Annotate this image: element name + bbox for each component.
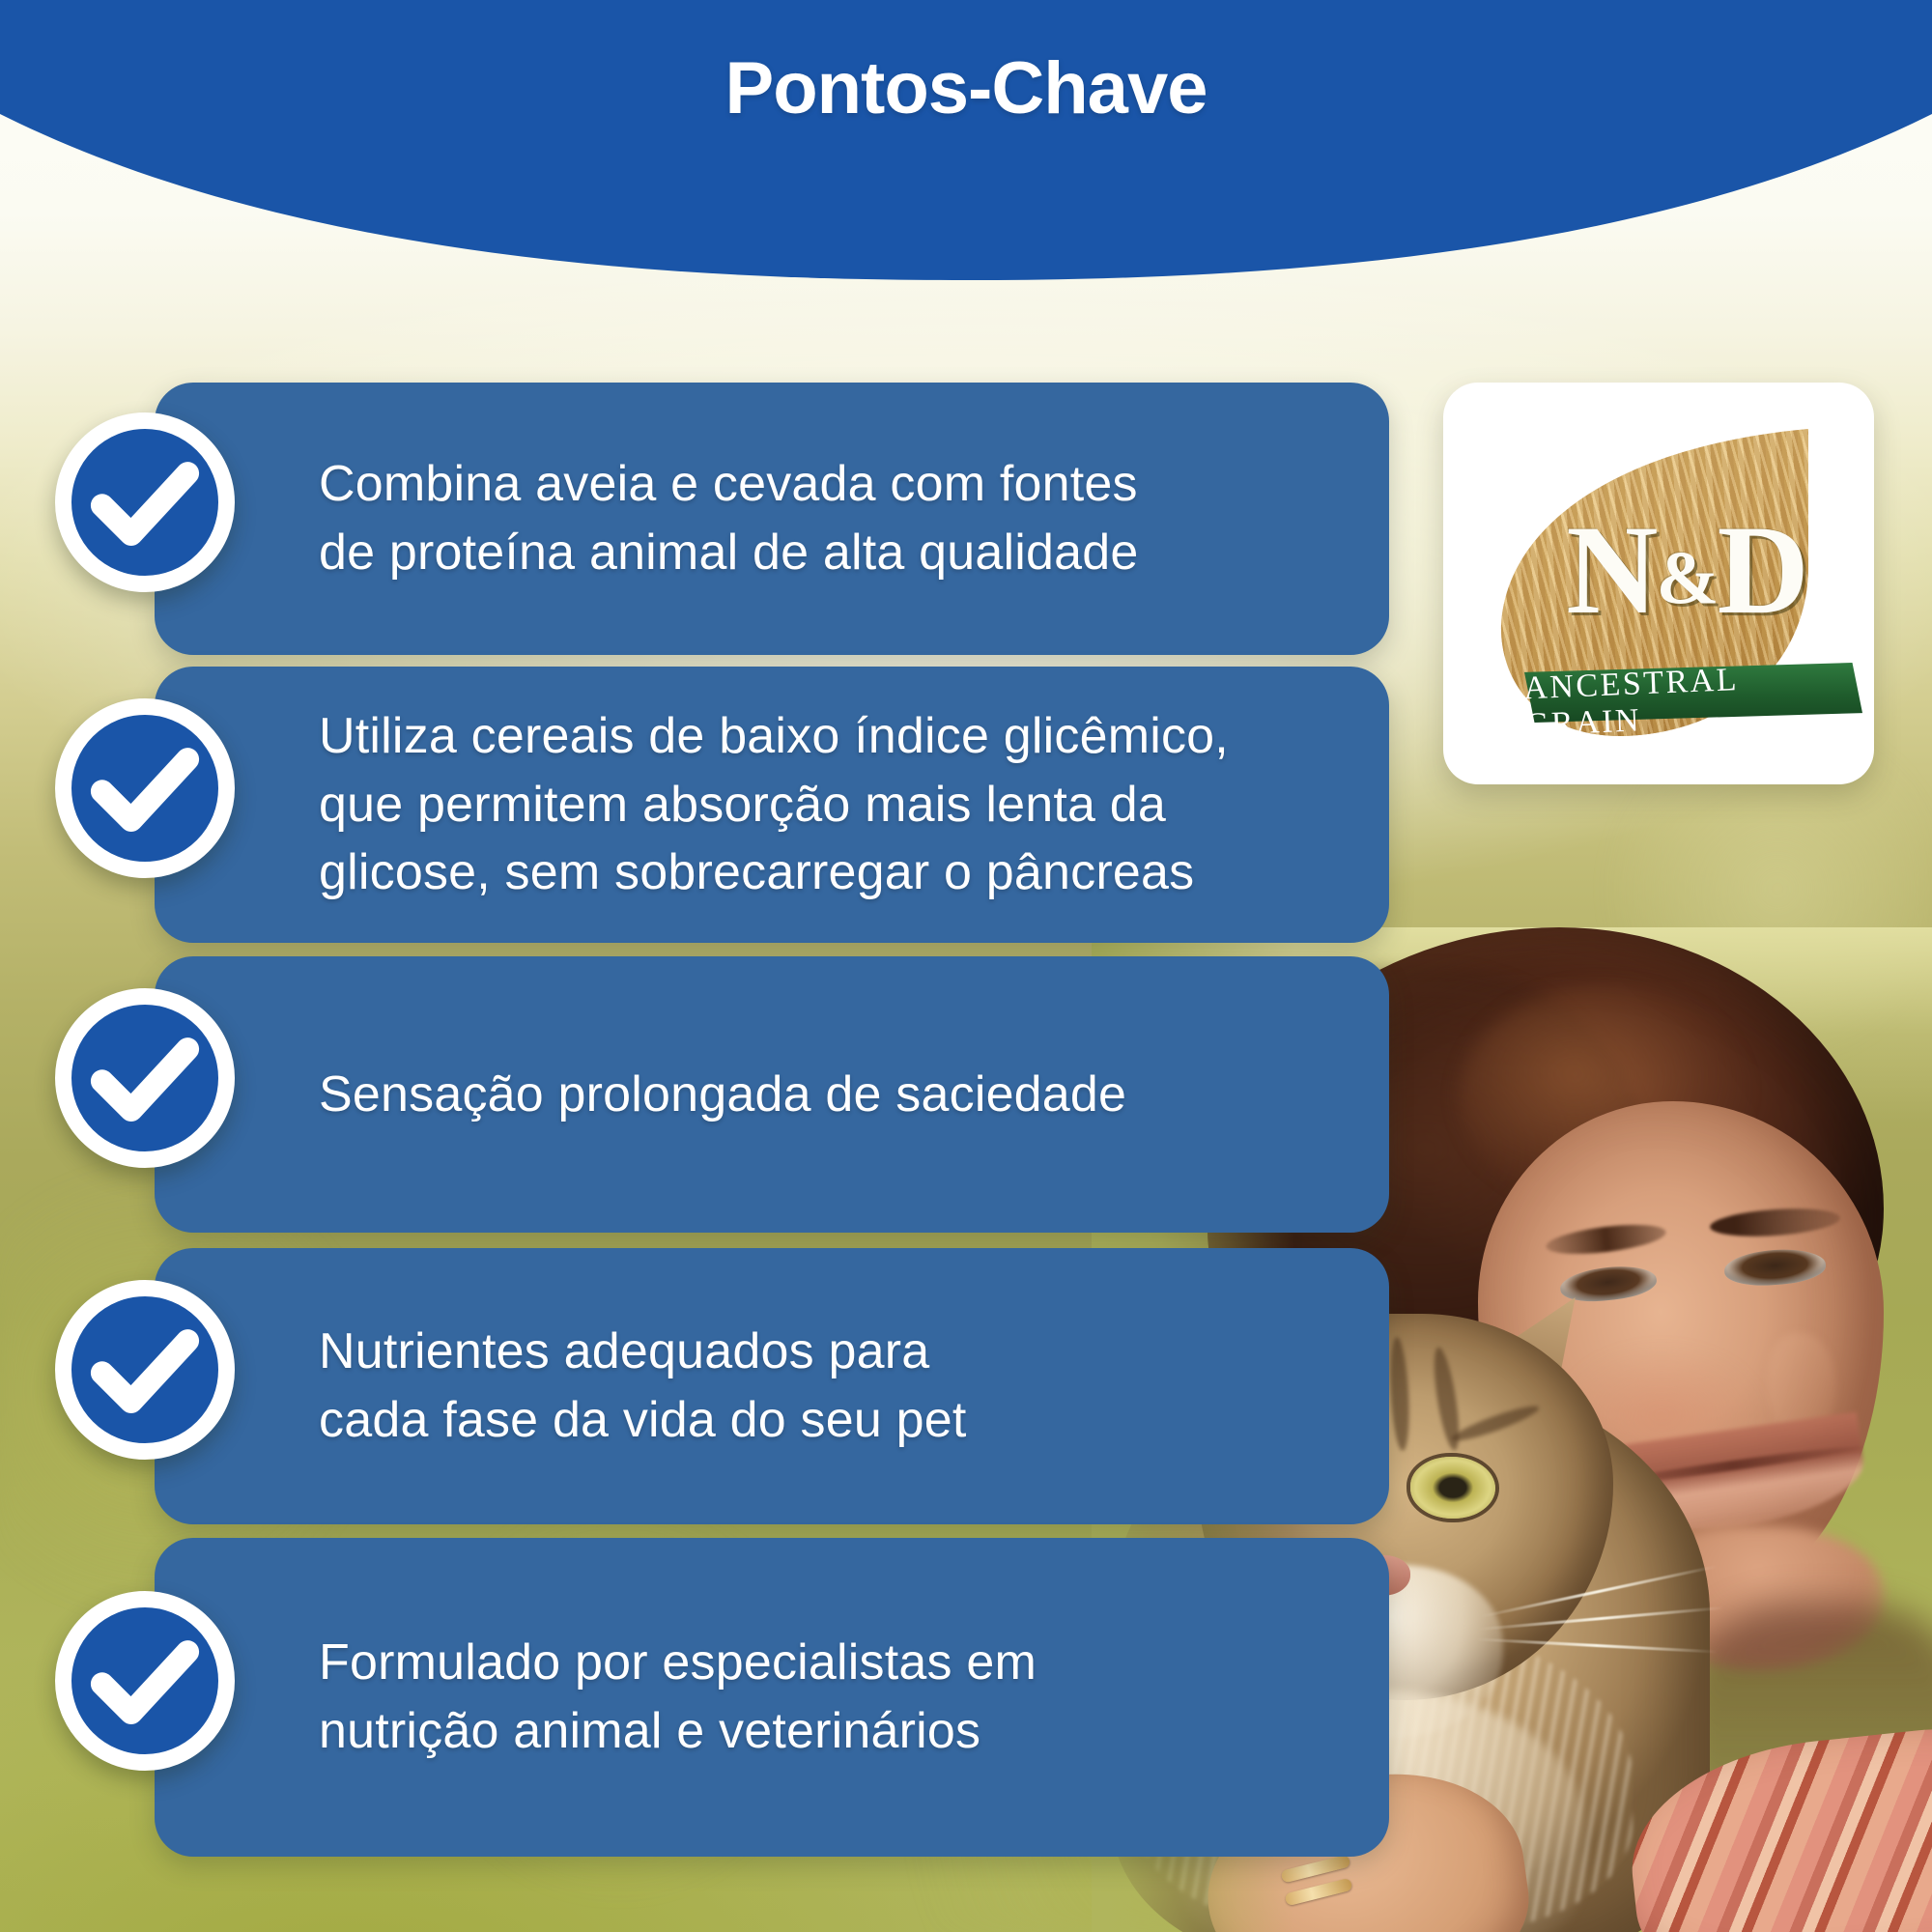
check-icon	[55, 988, 235, 1168]
logo-banner-label: ANCESTRAL GRAIN	[1523, 664, 1863, 738]
check-icon	[55, 1591, 235, 1771]
list-item[interactable]: Utiliza cereais de baixo índice glicêmic…	[155, 667, 1389, 943]
logo-ampersand: &	[1657, 535, 1718, 619]
poster-root: Pontos-Chave N&D ANCESTRAL GRAIN Combina…	[0, 0, 1932, 1932]
key-points-list: Combina aveia e cevada com fontes de pro…	[0, 0, 1932, 1932]
nd-ancestral-grain-logo: N&D ANCESTRAL GRAIN	[1443, 383, 1874, 784]
list-item[interactable]: Combina aveia e cevada com fontes de pro…	[155, 383, 1389, 655]
point-text: Combina aveia e cevada com fontes de pro…	[155, 450, 1178, 586]
point-text: Formulado por especialistas em nutrição …	[155, 1629, 1075, 1765]
logo-letter-n: N	[1566, 498, 1656, 640]
logo-leaf-graphic: N&D ANCESTRAL GRAIN	[1490, 421, 1828, 740]
list-item[interactable]: Formulado por especialistas em nutrição …	[155, 1538, 1389, 1857]
logo-monogram: N&D	[1542, 506, 1832, 634]
logo-letter-d: D	[1717, 498, 1806, 640]
check-icon	[55, 698, 235, 878]
point-text: Utiliza cereais de baixo índice glicêmic…	[155, 702, 1267, 907]
check-icon	[55, 1280, 235, 1460]
check-icon	[55, 412, 235, 592]
list-item[interactable]: Nutrientes adequados para cada fase da v…	[155, 1248, 1389, 1524]
point-text: Sensação prolongada de saciedade	[155, 1061, 1165, 1129]
point-text: Nutrientes adequados para cada fase da v…	[155, 1318, 1006, 1454]
list-item[interactable]: Sensação prolongada de saciedade	[155, 956, 1389, 1233]
